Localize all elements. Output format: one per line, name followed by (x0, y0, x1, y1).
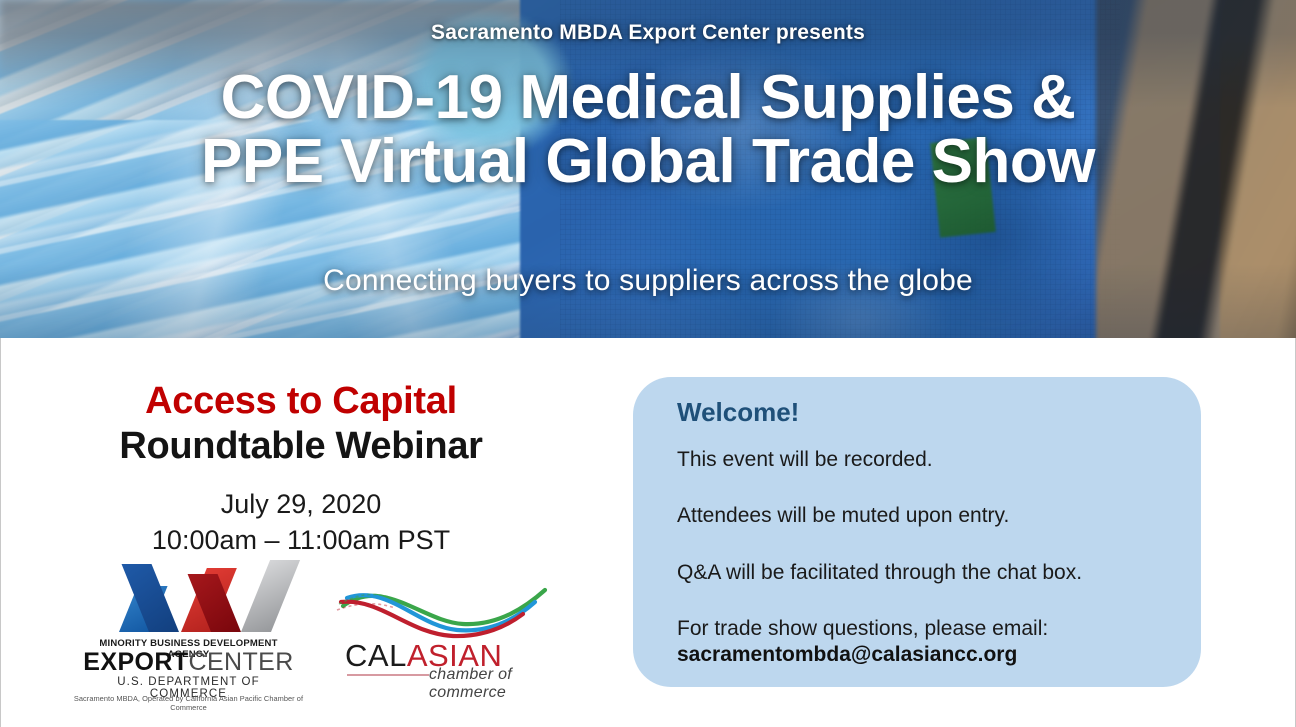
webinar-title-slide: Sacramento MBDA Export Center presents C… (0, 0, 1296, 727)
hero-banner: Sacramento MBDA Export Center presents C… (0, 0, 1296, 338)
welcome-panel-body: This event will be recorded. Attendees w… (677, 447, 1175, 668)
welcome-note: Q&A will be facilitated through the chat… (677, 560, 1175, 586)
welcome-note: This event will be recorded. (677, 447, 1175, 473)
mbda-export-center-wordmark: EXPORTCENTER (81, 650, 296, 675)
logo-row: MINORITY BUSINESS DEVELOPMENT AGENCY EXP… (1, 560, 601, 720)
hero-text-block: Sacramento MBDA Export Center presents C… (0, 0, 1296, 338)
calasian-rule (347, 674, 429, 676)
hero-title-line-2: PPE Virtual Global Trade Show (0, 130, 1296, 194)
mbda-center-word: CENTER (189, 648, 294, 676)
event-title-primary: Access to Capital (1, 380, 601, 423)
mbda-export-center-logo: MINORITY BUSINESS DEVELOPMENT AGENCY EXP… (81, 560, 296, 700)
welcome-panel: Welcome! This event will be recorded. At… (633, 377, 1201, 687)
event-title-secondary: Roundtable Webinar (1, 425, 601, 468)
hero-subtitle: Connecting buyers to suppliers across th… (0, 264, 1296, 298)
event-info-column: Access to Capital Roundtable Webinar Jul… (1, 338, 601, 727)
hero-eyebrow: Sacramento MBDA Export Center presents (0, 21, 1296, 45)
event-time: 10:00am – 11:00am PST (1, 522, 601, 558)
content-area: Access to Capital Roundtable Webinar Jul… (0, 338, 1296, 727)
contact-prompt: For trade show questions, please email: (677, 617, 1048, 640)
mbda-export-word: EXPORT (83, 648, 188, 676)
welcome-note: For trade show questions, please email:s… (677, 616, 1175, 669)
calasian-swoosh-icon (331, 578, 561, 644)
hero-title-line-1: COVID-19 Medical Supplies & (221, 63, 1076, 132)
chevron-gray-icon (241, 560, 300, 632)
event-datetime: July 29, 2020 10:00am – 11:00am PST (1, 486, 601, 558)
contact-email[interactable]: sacramentombda@calasiancc.org (677, 642, 1175, 668)
mbda-operator-note: Sacramento MBDA, Operated by California … (63, 694, 314, 712)
hero-title: COVID-19 Medical Supplies & PPE Virtual … (0, 66, 1296, 195)
calasian-tagline: chamber of commerce (429, 666, 561, 702)
calasian-cal-text: CAL (345, 638, 407, 673)
calasian-chamber-logo: CALASIAN chamber of commerce (331, 578, 561, 698)
welcome-note: Attendees will be muted upon entry. (677, 503, 1175, 529)
event-date: July 29, 2020 (1, 486, 601, 522)
mbda-chevron-mark-icon (101, 560, 276, 632)
welcome-panel-title: Welcome! (677, 397, 799, 428)
